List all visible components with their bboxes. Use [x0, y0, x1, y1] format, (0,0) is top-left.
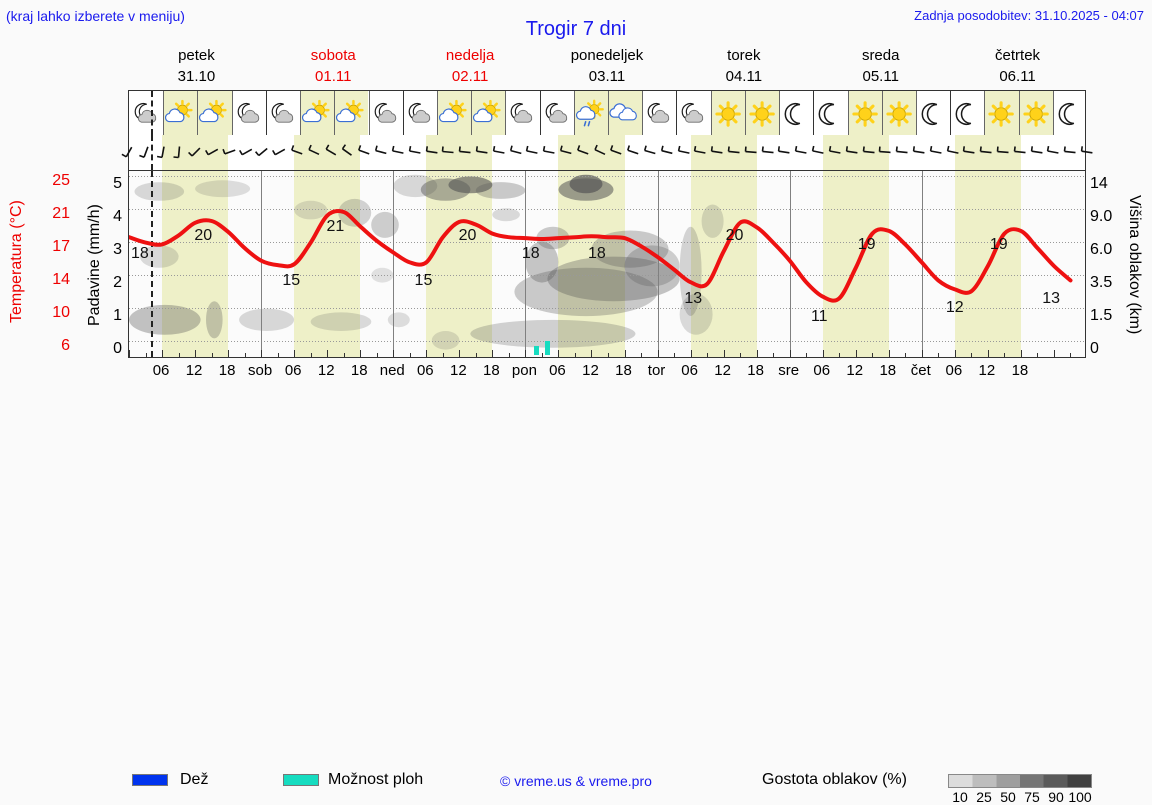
- sun-icon: [711, 91, 745, 136]
- hour-separator: [471, 91, 472, 136]
- temperature-tick-10: 10: [36, 304, 70, 322]
- x-axis-tick: [889, 350, 890, 357]
- x-axis-tick: [707, 353, 708, 357]
- cloud-density-gradient-bar: [948, 774, 1092, 788]
- legend: Dež Možnost ploh © vreme.us & vreme.pro …: [0, 384, 1152, 426]
- hour-separator: [608, 91, 609, 136]
- hour-separator: [574, 91, 575, 136]
- x-axis-tick: [922, 350, 923, 357]
- hour-separator: [984, 91, 985, 136]
- x-axis-tick: [360, 350, 361, 357]
- x-axis-tick: [658, 350, 659, 357]
- x-axis-tick: [162, 350, 163, 357]
- day-header-row: petek31.10sobota01.11nedelja02.11ponedel…: [128, 45, 1086, 90]
- day-name: sreda: [812, 45, 949, 66]
- moon-icon: [916, 91, 950, 136]
- day-date: 31.10: [128, 66, 265, 87]
- day-separator: [403, 91, 404, 136]
- copyright-link[interactable]: © vreme.us & vreme.pro: [500, 773, 652, 789]
- day-header-3: ponedeljek03.11: [539, 45, 676, 87]
- temperature-label-8: 13: [684, 290, 702, 308]
- x-axis-tick: [558, 350, 559, 357]
- moon-cloud-icon: [266, 91, 300, 136]
- showers-swatch: [283, 774, 319, 786]
- x-axis-tick: [1054, 350, 1055, 357]
- hour-separator: [1053, 91, 1054, 136]
- temperature-tick-25: 25: [36, 172, 70, 190]
- x-axis-tick: [410, 353, 411, 357]
- day-separator: [950, 91, 951, 136]
- moon-cloud-icon: [403, 91, 437, 136]
- x-axis-tick: [443, 353, 444, 357]
- sun-icon: [1019, 91, 1053, 136]
- moon-cloud-icon: [642, 91, 676, 136]
- day-date: 06.11: [949, 66, 1086, 87]
- precipitation-tick-4: 4: [104, 208, 122, 226]
- showers-bar-1: [545, 341, 550, 355]
- x-axis-tick: [542, 353, 543, 357]
- x-axis-tick: [773, 353, 774, 357]
- sun-cloud-icon: [163, 91, 197, 136]
- cloud-height-axis-title: Višina oblakov (km): [1122, 168, 1146, 362]
- cloud-height-tick-9.0: 9.0: [1090, 208, 1124, 226]
- hour-separator: [300, 91, 301, 136]
- x-axis-tick: [228, 350, 229, 357]
- temperature-label-3: 21: [326, 218, 344, 236]
- x-axis-tick: [872, 353, 873, 357]
- day-header-5: sreda05.11: [812, 45, 949, 87]
- x-axis-tick: [938, 353, 939, 357]
- temperature-tick-21: 21: [36, 205, 70, 223]
- x-axis-tick: [674, 353, 675, 357]
- cloud-density-scale-25: 25: [971, 789, 997, 805]
- moon-cloud-icon: [505, 91, 539, 136]
- sun-icon: [745, 91, 779, 136]
- x-axis-tick: [823, 350, 824, 357]
- x-axis-tick: [278, 353, 279, 357]
- day-header-0: petek31.10: [128, 45, 265, 87]
- day-name: nedelja: [402, 45, 539, 66]
- hour-separator: [1019, 91, 1020, 136]
- rain-swatch: [132, 774, 168, 786]
- moon-icon: [950, 91, 984, 136]
- x-axis-tick: [740, 353, 741, 357]
- hour-separator: [369, 91, 370, 136]
- temperature-label-9: 20: [726, 227, 744, 245]
- weather-icons-row: [128, 90, 1086, 135]
- temperature-label-13: 19: [990, 236, 1008, 254]
- x-axis-tick: [492, 350, 493, 357]
- hour-separator: [232, 91, 233, 136]
- day-date: 04.11: [675, 66, 812, 87]
- temperature-label-11: 19: [858, 236, 876, 254]
- day-separator: [266, 91, 267, 136]
- sun-icon: [984, 91, 1018, 136]
- day-separator: [813, 91, 814, 136]
- hour-separator: [505, 91, 506, 136]
- x-axis-tick: [525, 350, 526, 357]
- x-tick-label-18-26: 18: [1000, 362, 1040, 379]
- hour-separator: [437, 91, 438, 136]
- day-header-4: torek04.11: [675, 45, 812, 87]
- sun-cloud-icon: [300, 91, 334, 136]
- x-axis-tick: [856, 350, 857, 357]
- x-axis-tick: [311, 353, 312, 357]
- temperature-tick-14: 14: [36, 271, 70, 289]
- precipitation-tick-3: 3: [104, 241, 122, 259]
- x-axis-tick: [393, 350, 394, 357]
- day-separator: [540, 91, 541, 136]
- wind-barb: [1077, 135, 1097, 170]
- hour-separator: [745, 91, 746, 136]
- showers-legend-label: Možnost ploh: [328, 771, 423, 789]
- sun-cloud-icon: [437, 91, 471, 136]
- x-axis-tick: [195, 350, 196, 357]
- cloud-height-tick-0: 0: [1090, 340, 1124, 358]
- x-axis-tick: [146, 353, 147, 357]
- cloud-height-tick-1.5: 1.5: [1090, 307, 1124, 325]
- moon-cloud-icon: [232, 91, 266, 136]
- header-bar: (kraj lahko izberete v meniju) Trogir 7 …: [0, 0, 1152, 40]
- hour-separator: [642, 91, 643, 136]
- meteogram-plot[interactable]: 182015211520181813201119121913: [128, 170, 1086, 358]
- x-axis-tick: [245, 353, 246, 357]
- x-axis-tick: [790, 350, 791, 357]
- x-axis-tick: [1037, 353, 1038, 357]
- day-header-6: četrtek06.11: [949, 45, 1086, 87]
- temperature-axis-title: Temperatura (°C): [6, 172, 28, 352]
- cloud-icon: [608, 91, 642, 136]
- cloud-height-tick-3.5: 3.5: [1090, 274, 1124, 292]
- x-axis-tick: [608, 353, 609, 357]
- x-axis-tick: [426, 350, 427, 357]
- temperature-tick-6: 6: [36, 337, 70, 355]
- cloud-density-scale-100: 100: [1067, 789, 1093, 805]
- x-axis-tick: [476, 353, 477, 357]
- hour-separator: [197, 91, 198, 136]
- x-axis-tick: [839, 353, 840, 357]
- hour-separator: [848, 91, 849, 136]
- x-axis-tick: [459, 350, 460, 357]
- last-update-text: Zadnja posodobitev: 31.10.2025 - 04:07: [914, 8, 1144, 23]
- moon-cloud-icon: [540, 91, 574, 136]
- cloud-density-scale-75: 75: [1019, 789, 1045, 805]
- x-axis-tick: [1004, 353, 1005, 357]
- x-axis-tick: [344, 353, 345, 357]
- cloud-height-tick-6.0: 6.0: [1090, 241, 1124, 259]
- x-axis-tick: [1021, 350, 1022, 357]
- temperature-label-10: 11: [811, 308, 828, 326]
- cloud-density-scale-10: 10: [947, 789, 973, 805]
- precipitation-tick-1: 1: [104, 307, 122, 325]
- hour-separator: [163, 91, 164, 136]
- precipitation-tick-2: 2: [104, 274, 122, 292]
- day-name: ponedeljek: [539, 45, 676, 66]
- wind-barbs-row: [128, 135, 1086, 170]
- hour-separator: [882, 91, 883, 136]
- temperature-label-2: 15: [282, 272, 300, 290]
- x-axis-tick: [509, 353, 510, 357]
- day-date: 03.11: [539, 66, 676, 87]
- x-axis-tick: [691, 350, 692, 357]
- day-date: 05.11: [812, 66, 949, 87]
- x-axis-tick: [806, 353, 807, 357]
- x-axis-tick: [988, 350, 989, 357]
- temperature-label-7: 18: [588, 245, 606, 263]
- x-axis-tick: [955, 350, 956, 357]
- x-axis-tick: [179, 353, 180, 357]
- x-axis-tick: [724, 350, 725, 357]
- hour-separator: [916, 91, 917, 136]
- x-axis-tick: [971, 353, 972, 357]
- x-axis-tick: [591, 350, 592, 357]
- cloud-density-label: Gostota oblakov (%): [762, 771, 907, 789]
- current-time-line: [151, 91, 153, 135]
- moon-cloud-icon: [676, 91, 710, 136]
- temperature-curve: [129, 171, 1086, 357]
- day-name: sobota: [265, 45, 402, 66]
- hour-separator: [334, 91, 335, 136]
- sun-cloud-rain-icon: [574, 91, 608, 136]
- x-axis-tick: [1070, 353, 1071, 357]
- sun-cloud-icon: [471, 91, 505, 136]
- precipitation-tick-5: 5: [104, 175, 122, 193]
- x-axis-tick: [129, 350, 130, 357]
- cloud-height-tick-14: 14: [1090, 175, 1124, 193]
- hour-separator: [711, 91, 712, 136]
- cloud-density-scale-50: 50: [995, 789, 1021, 805]
- x-axis-tick: [212, 353, 213, 357]
- temperature-label-6: 18: [522, 245, 540, 263]
- precipitation-tick-0: 0: [104, 340, 122, 358]
- moon-icon: [813, 91, 847, 136]
- x-axis-tick: [575, 353, 576, 357]
- day-separator: [676, 91, 677, 136]
- x-axis-tick: [294, 350, 295, 357]
- cloud-density-scale-90: 90: [1043, 789, 1069, 805]
- temperature-tick-17: 17: [36, 238, 70, 256]
- day-date: 02.11: [402, 66, 539, 87]
- moon-icon: [1053, 91, 1087, 136]
- x-axis-tick: [625, 350, 626, 357]
- hour-separator: [779, 91, 780, 136]
- sun-icon: [848, 91, 882, 136]
- showers-bar-0: [534, 346, 539, 355]
- x-axis-tick: [261, 350, 262, 357]
- temperature-label-4: 15: [415, 272, 433, 290]
- temperature-label-0: 18: [131, 245, 149, 263]
- moon-cloud-icon: [369, 91, 403, 136]
- day-name: torek: [675, 45, 812, 66]
- current-time-line: [151, 135, 153, 170]
- x-axis-tick: [641, 353, 642, 357]
- x-axis-tick: [377, 353, 378, 357]
- temperature-label-1: 20: [194, 227, 212, 245]
- sun-cloud-icon: [334, 91, 368, 136]
- sun-icon: [882, 91, 916, 136]
- temperature-label-14: 13: [1042, 290, 1060, 308]
- sun-cloud-icon: [197, 91, 231, 136]
- temperature-label-5: 20: [459, 227, 477, 245]
- temperature-label-12: 12: [946, 299, 964, 317]
- x-axis-tick: [757, 350, 758, 357]
- day-header-2: nedelja02.11: [402, 45, 539, 87]
- day-name: petek: [128, 45, 265, 66]
- rain-legend-label: Dež: [180, 771, 208, 789]
- moon-icon: [779, 91, 813, 136]
- x-axis-tick: [327, 350, 328, 357]
- day-header-1: sobota01.11: [265, 45, 402, 87]
- precipitation-axis-title: Padavine (mm/h): [84, 172, 106, 358]
- x-axis-tick: [905, 353, 906, 357]
- day-date: 01.11: [265, 66, 402, 87]
- moon-cloud-icon: [129, 91, 163, 136]
- day-name: četrtek: [949, 45, 1086, 66]
